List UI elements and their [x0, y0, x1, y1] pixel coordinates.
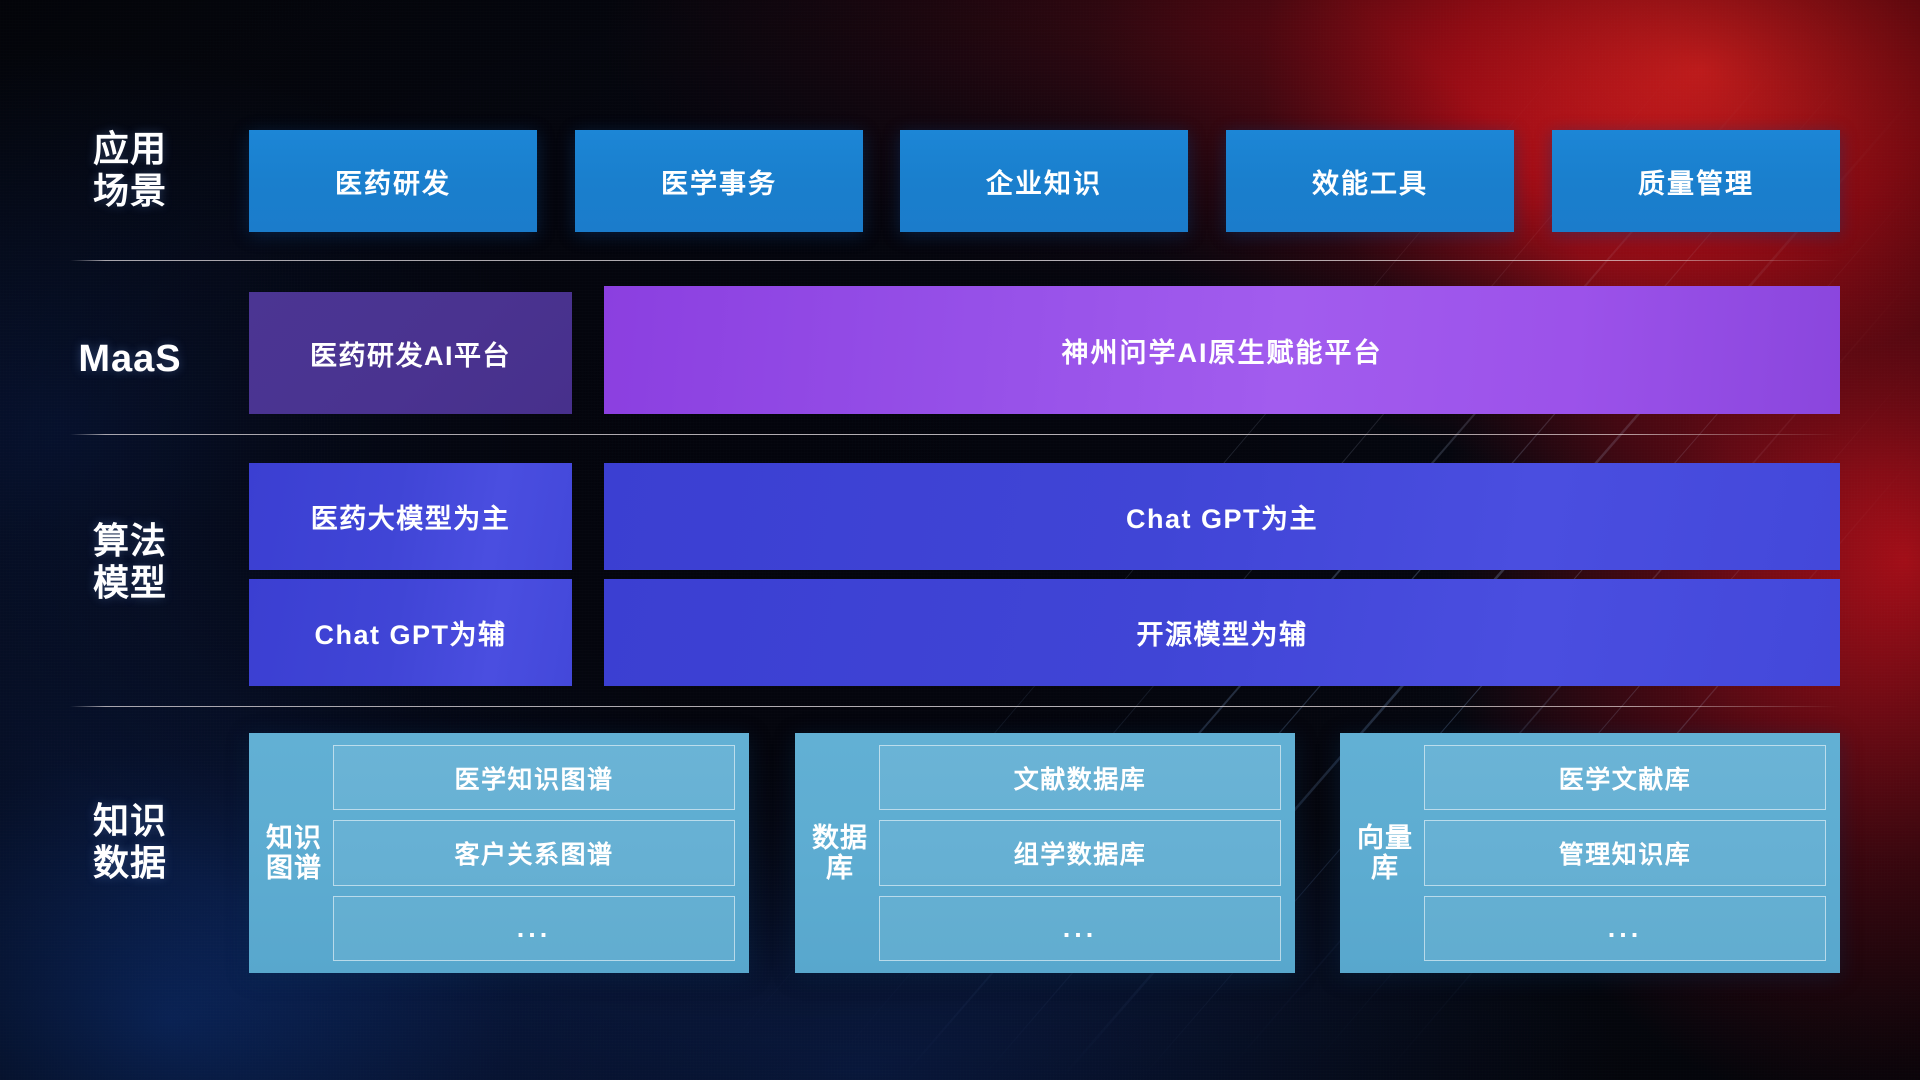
knowledge-item-graph-2[interactable]: 客户关系图谱	[333, 820, 735, 885]
knowledge-panel-vector[interactable]: 向量库 医学文献库 管理知识库 ...	[1340, 733, 1840, 973]
algo-box-chatgpt-primary[interactable]: Chat GPT为主	[604, 463, 1840, 570]
knowledge-panel-graph-title: 知识图谱	[263, 745, 325, 961]
row-label-application: 应用 场景	[60, 128, 200, 212]
knowledge-panel-vector-title: 向量库	[1354, 745, 1416, 961]
row-label-knowledge-line1: 知识	[60, 800, 200, 842]
row-label-maas: MaaS	[60, 337, 200, 381]
app-box-2[interactable]: 医学事务	[575, 130, 863, 232]
knowledge-item-vector-2[interactable]: 管理知识库	[1424, 820, 1826, 885]
maas-box-pharma-ai-platform[interactable]: 医药研发AI平台	[249, 292, 572, 414]
knowledge-panel-database-items: 文献数据库 组学数据库 ...	[871, 745, 1281, 961]
row-label-maas-line1: MaaS	[60, 337, 200, 381]
algo-box-chatgpt-primary-label: Chat GPT为主	[1126, 497, 1318, 536]
algo-box-opensource-secondary[interactable]: 开源模型为辅	[604, 579, 1840, 686]
maas-box-shenzhou-platform-label: 神州问学AI原生赋能平台	[1062, 331, 1383, 370]
knowledge-item-vector-1[interactable]: 医学文献库	[1424, 745, 1826, 810]
knowledge-panel-graph[interactable]: 知识图谱 医学知识图谱 客户关系图谱 ...	[249, 733, 749, 973]
app-box-5[interactable]: 质量管理	[1552, 130, 1840, 232]
row-label-knowledge-line2: 数据	[60, 842, 200, 884]
algo-box-opensource-secondary-label: 开源模型为辅	[1137, 613, 1308, 652]
app-box-4-label: 效能工具	[1312, 162, 1428, 201]
app-box-1-label: 医药研发	[335, 162, 451, 201]
row-label-knowledge: 知识 数据	[60, 800, 200, 884]
row-label-application-line2: 场景	[60, 170, 200, 212]
row-separator-1	[70, 260, 1840, 261]
knowledge-panel-database[interactable]: 数据库 文献数据库 组学数据库 ...	[795, 733, 1295, 973]
row-separator-3	[70, 706, 1840, 707]
algo-box-pharma-primary-label: 医药大模型为主	[311, 497, 511, 536]
maas-box-shenzhou-platform[interactable]: 神州问学AI原生赋能平台	[604, 286, 1840, 414]
row-label-algorithm: 算法 模型	[60, 520, 200, 604]
app-box-3-label: 企业知识	[986, 162, 1102, 201]
app-box-2-label: 医学事务	[661, 162, 777, 201]
knowledge-panel-graph-items: 医学知识图谱 客户关系图谱 ...	[325, 745, 735, 961]
knowledge-panel-database-title: 数据库	[809, 745, 871, 961]
app-box-5-label: 质量管理	[1638, 162, 1754, 201]
knowledge-item-graph-3[interactable]: ...	[333, 896, 735, 961]
algo-box-chatgpt-secondary[interactable]: Chat GPT为辅	[249, 579, 572, 686]
knowledge-panel-vector-items: 医学文献库 管理知识库 ...	[1416, 745, 1826, 961]
algo-box-pharma-primary[interactable]: 医药大模型为主	[249, 463, 572, 570]
app-box-4[interactable]: 效能工具	[1226, 130, 1514, 232]
knowledge-item-vector-3[interactable]: ...	[1424, 896, 1826, 961]
knowledge-item-graph-1[interactable]: 医学知识图谱	[333, 745, 735, 810]
app-box-3[interactable]: 企业知识	[900, 130, 1188, 232]
knowledge-item-database-3[interactable]: ...	[879, 896, 1281, 961]
row-label-application-line1: 应用	[60, 128, 200, 170]
row-separator-2	[70, 434, 1840, 435]
maas-box-pharma-ai-platform-label: 医药研发AI平台	[310, 334, 511, 373]
app-box-1[interactable]: 医药研发	[249, 130, 537, 232]
knowledge-item-database-2[interactable]: 组学数据库	[879, 820, 1281, 885]
algo-box-chatgpt-secondary-label: Chat GPT为辅	[314, 613, 506, 652]
knowledge-item-database-1[interactable]: 文献数据库	[879, 745, 1281, 810]
row-label-algorithm-line1: 算法	[60, 520, 200, 562]
architecture-diagram: 应用 场景 医药研发 医学事务 企业知识 效能工具 质量管理 MaaS 医药研发…	[0, 0, 1920, 1080]
row-label-algorithm-line2: 模型	[60, 562, 200, 604]
